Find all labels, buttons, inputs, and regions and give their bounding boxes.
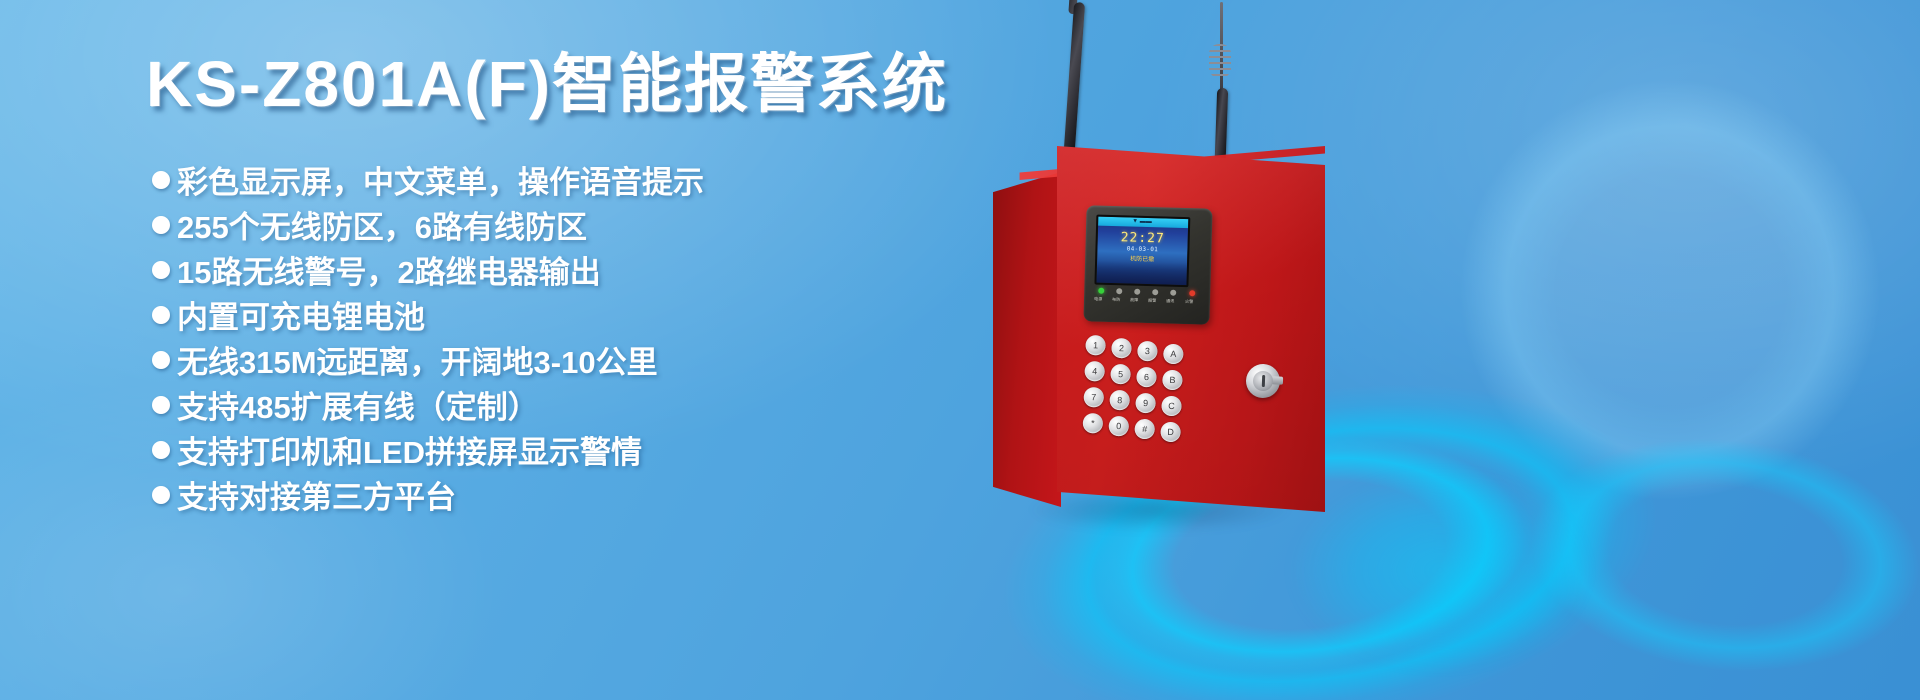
led-alarm [1152,289,1158,295]
lcd-screen: ▼ ▬▬ 22:27 04-03-01 机防已撤 [1094,215,1190,288]
key-c[interactable]: C [1161,396,1182,417]
list-item: 无线315M远距离，开阔地3-10公里 [152,337,704,382]
feature-text: 255个无线防区，6路有线防区 [177,202,587,247]
feature-text: 无线315M远距离，开阔地3-10公里 [177,337,658,382]
led-arm [1116,288,1122,294]
list-item: 彩色显示屏，中文菜单，操作语音提示 [152,157,704,202]
cabinet-front-face [1057,146,1325,512]
list-item: 内置可充电锂电池 [152,292,704,337]
copy-block: KS-Z801A(F)智能报警系统 彩色显示屏，中文菜单，操作语音提示 255个… [0,0,980,700]
display-bezel: ▼ ▬▬ 22:27 04-03-01 机防已撤 电源 布防 故障 报警 通讯 [1083,205,1212,324]
key-a[interactable]: A [1163,344,1184,365]
feature-text: 支持打印机和LED拼接屏显示警情 [177,427,642,472]
key-b[interactable]: B [1162,370,1183,391]
filled-circle-bullet-icon [152,396,170,414]
lock-core-icon [1253,371,1274,392]
key-1[interactable]: 1 [1085,335,1106,356]
cyan-swoosh-far-right [1519,420,1920,690]
cyan-swoosh-bottom [1290,470,1590,670]
lcd-status-bar: ▼ ▬▬ [1098,217,1188,229]
key-4[interactable]: 4 [1084,361,1105,382]
led-comm-label: 通讯 [1166,299,1174,305]
key-d[interactable]: D [1160,422,1181,443]
stub-antenna-left-icon [1063,2,1085,162]
key-7[interactable]: 7 [1083,387,1104,408]
led-arm-label: 布防 [1112,297,1120,303]
filled-circle-bullet-icon [152,261,170,279]
lock-keyhole-icon [1261,375,1264,387]
lock-tab-icon [1272,376,1283,384]
key-2[interactable]: 2 [1111,338,1132,359]
feature-text: 彩色显示屏，中文菜单，操作语音提示 [177,157,704,202]
filled-circle-bullet-icon [152,441,170,459]
lcd-wallpaper [1096,261,1187,286]
key-star[interactable]: * [1083,413,1104,434]
page-title: KS-Z801A(F)智能报警系统 [146,52,948,116]
led-fire [1189,290,1195,296]
feature-text: 15路无线警号，2路继电器输出 [177,247,601,292]
led-power-label: 电源 [1094,297,1102,303]
led-fire-label: 火警 [1185,299,1193,305]
list-item: 15路无线警号，2路继电器输出 [152,247,704,292]
signal-icon: ▼ ▬▬ [1132,219,1152,227]
filled-circle-bullet-icon [152,351,170,369]
led-power [1098,288,1104,294]
led-alarm-label: 报警 [1148,298,1156,304]
feature-list: 彩色显示屏，中文菜单，操作语音提示 255个无线防区，6路有线防区 15路无线警… [152,157,704,517]
antenna-coil-icon [1209,44,1231,78]
filled-circle-bullet-icon [152,171,170,189]
list-item: 支持打印机和LED拼接屏显示警情 [152,427,704,472]
banner-stage: KS-Z801A(F)智能报警系统 彩色显示屏，中文菜单，操作语音提示 255个… [0,0,1920,700]
feature-text: 支持对接第三方平台 [177,472,456,517]
key-5[interactable]: 5 [1110,364,1131,385]
cabinet-left-side [993,172,1061,507]
filled-circle-bullet-icon [152,306,170,324]
feature-text: 内置可充电锂电池 [177,292,425,337]
led-comm [1170,290,1176,296]
filled-circle-bullet-icon [152,486,170,504]
key-3[interactable]: 3 [1137,341,1158,362]
key-0[interactable]: 0 [1108,416,1129,437]
led-indicator-row: 电源 布防 故障 报警 通讯 火警 [1094,288,1199,313]
list-item: 255个无线防区，6路有线防区 [152,202,704,247]
led-fault-label: 故障 [1130,298,1138,304]
key-6[interactable]: 6 [1136,367,1157,388]
key-8[interactable]: 8 [1109,390,1130,411]
list-item: 支持对接第三方平台 [152,472,704,517]
key-9[interactable]: 9 [1135,393,1156,414]
key-hash[interactable]: # [1134,419,1155,440]
led-fault [1134,289,1140,295]
list-item: 支持485扩展有线（定制） [152,382,704,427]
keypad[interactable]: 1 2 3 A 4 5 6 B 7 8 9 C * 0 # D [1082,335,1206,449]
feature-text: 支持485扩展有线（定制） [177,382,539,427]
filled-circle-bullet-icon [152,216,170,234]
background-glow-right [1460,80,1880,500]
